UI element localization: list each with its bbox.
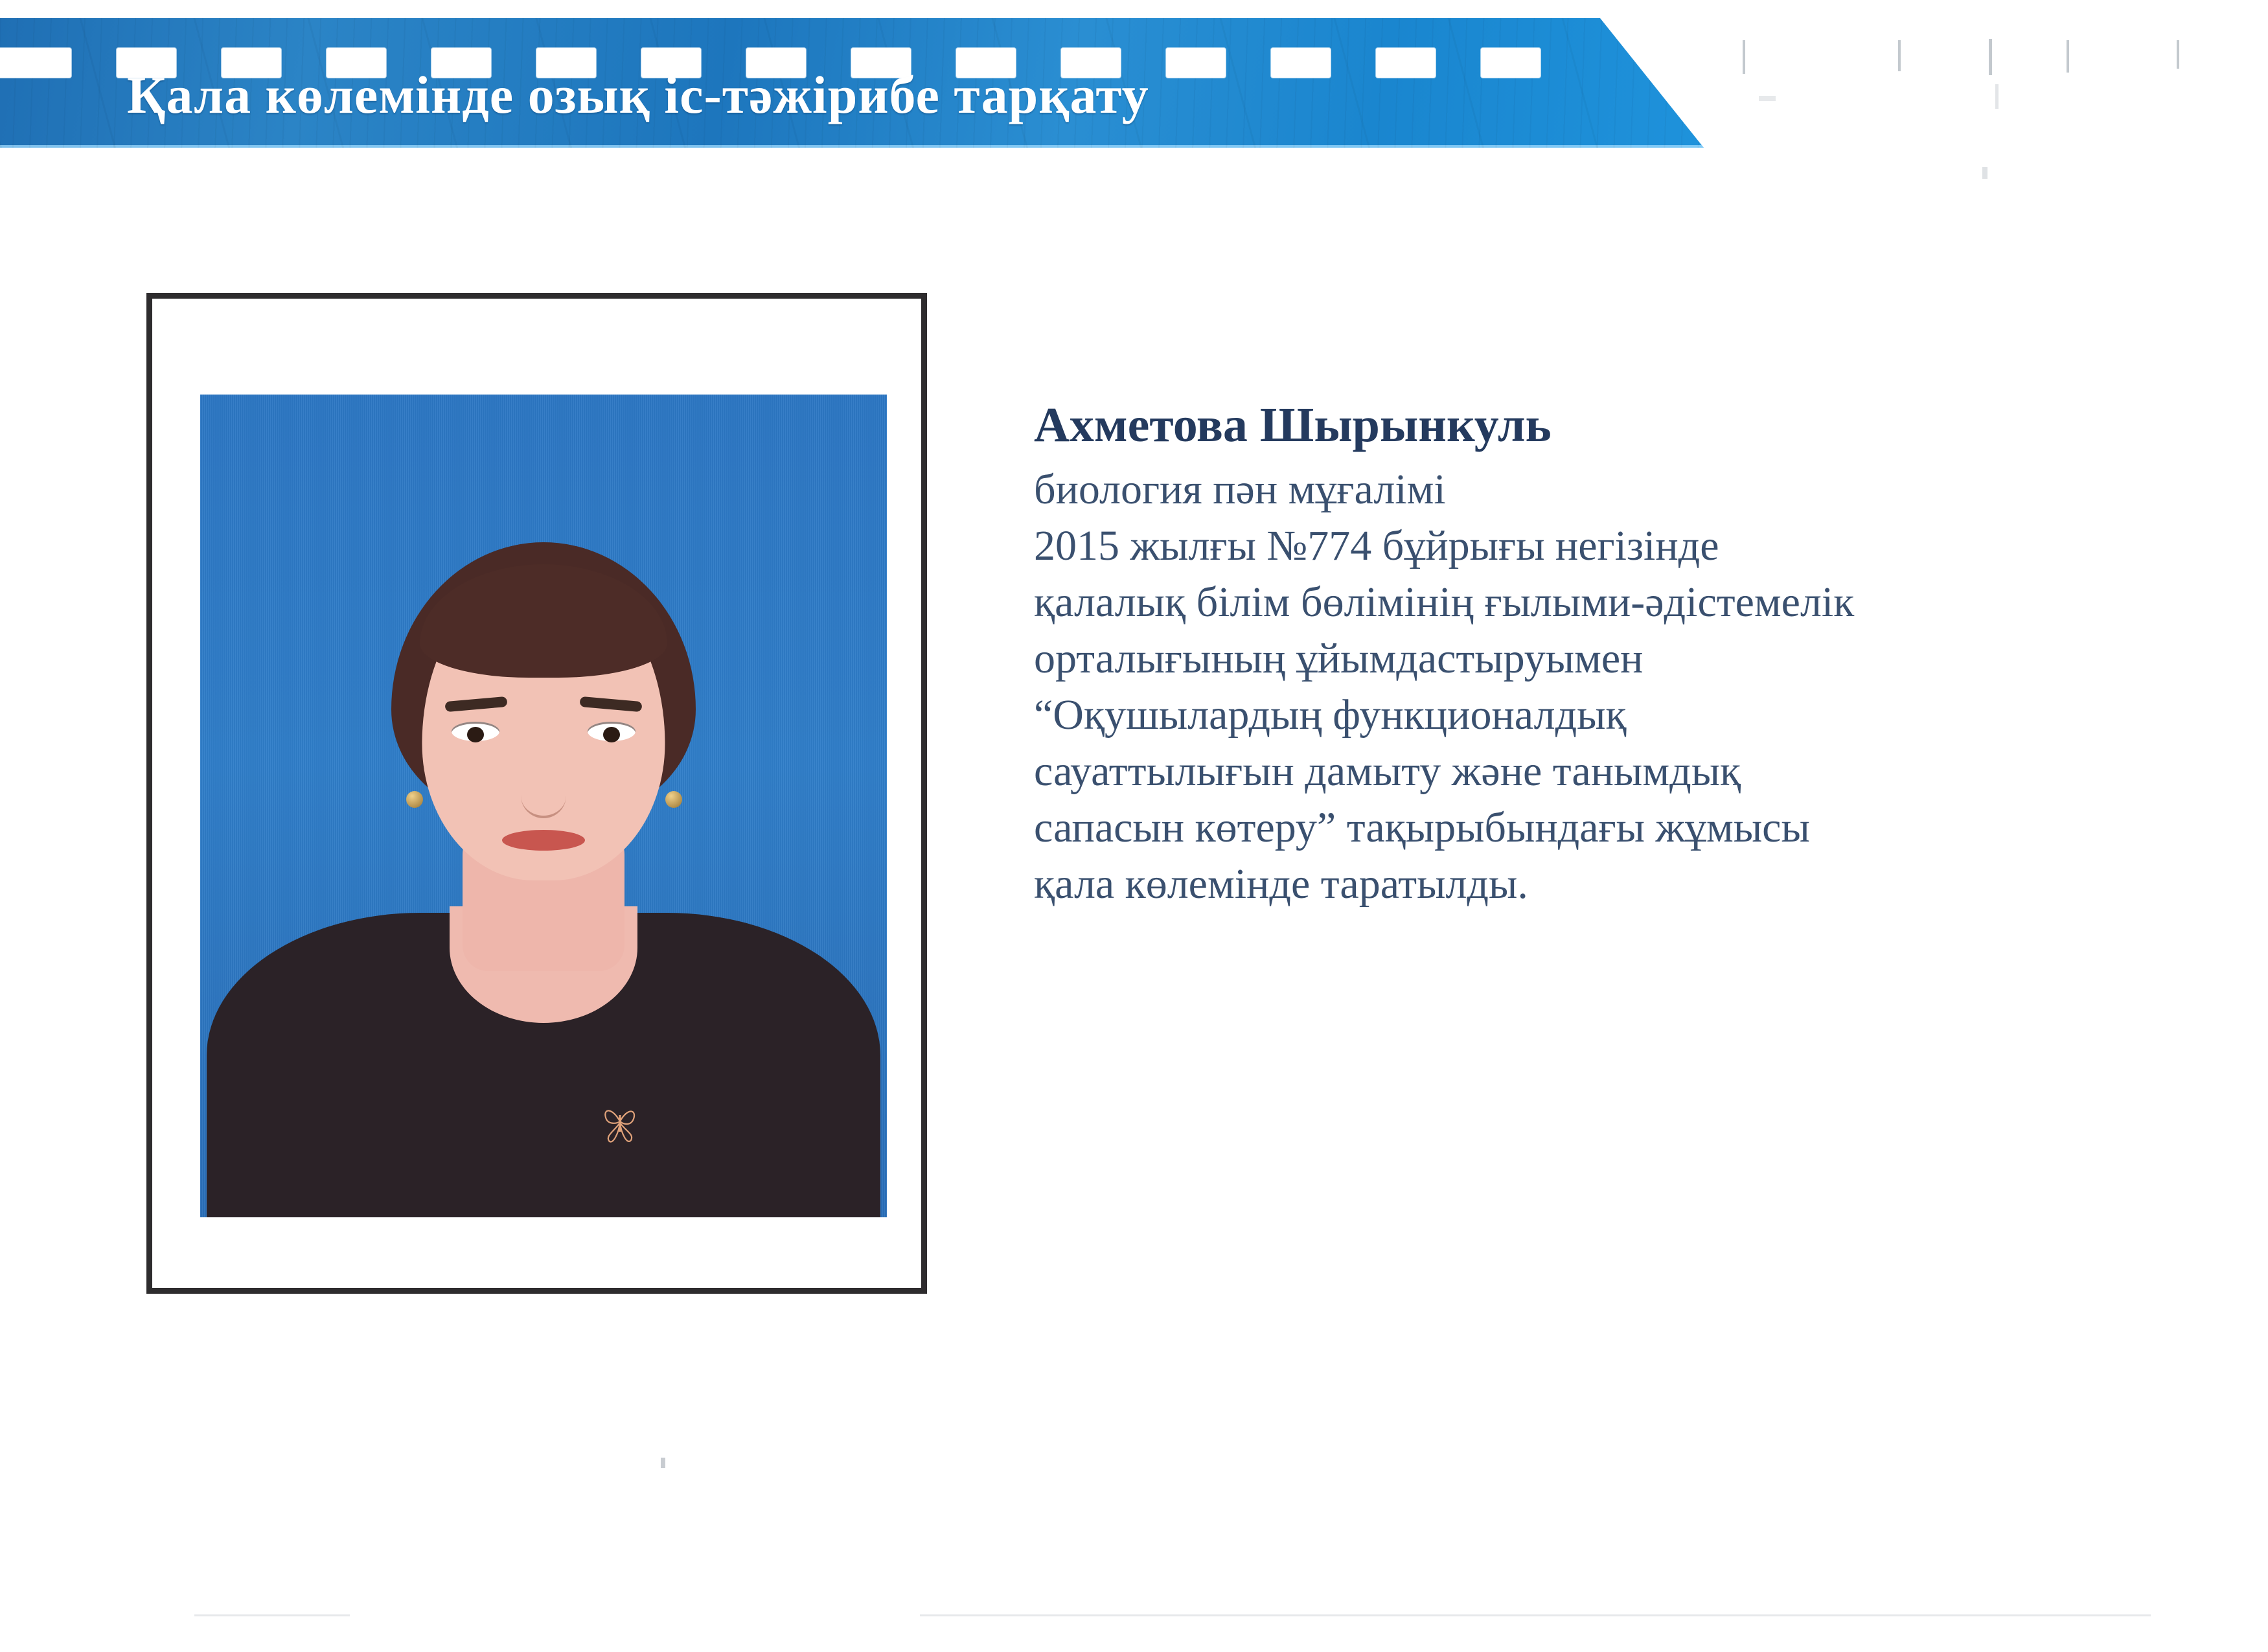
description-line-1: 2015 жылғы №774 бұйрығы негізінде — [1034, 518, 2213, 574]
scan-speck — [1743, 40, 1745, 74]
scan-speck — [1982, 167, 1987, 179]
description-line-7: қала көлемінде таратылды. — [1034, 856, 2213, 912]
scan-artifact — [661, 1458, 665, 1468]
header-banner: Қала көлемінде озық іс-тәжірибе тарқату — [0, 18, 1723, 148]
scan-speck — [1759, 96, 1776, 101]
description-line-5: сауаттылығын дамыту және танымдық — [1034, 743, 2213, 799]
scan-speck — [2067, 40, 2069, 73]
page-title: Қала көлемінде озық іс-тәжірибе тарқату — [127, 69, 1149, 122]
portrait-photo — [200, 395, 887, 1217]
info-text-block: Ахметова Шырынкуль биология пән мұғалімі… — [1034, 396, 2213, 913]
description-line-6: сапасын көтеру” тақырыбындағы жұмысы — [1034, 799, 2213, 856]
subject-earring-right — [665, 791, 682, 808]
person-subtitle: биология пән мұғалімі — [1034, 461, 2213, 518]
slide-page: Қала көлемінде озық іс-тәжірибе тарқату — [0, 0, 2268, 1652]
scan-speck — [1989, 39, 1992, 75]
scan-artifact — [920, 1614, 2151, 1616]
portrait-frame — [146, 293, 927, 1294]
description-line-3: орталығының ұйымдастыруымен — [1034, 630, 2213, 687]
subject-eye-left — [452, 722, 499, 741]
butterfly-brooch-icon — [597, 1096, 643, 1146]
person-name: Ахметова Шырынкуль — [1034, 396, 2213, 455]
scan-speck — [1995, 84, 1999, 109]
description-line-4: “Оқушылардың функционалдық — [1034, 687, 2213, 743]
scan-speck — [1898, 40, 1901, 71]
subject-mouth — [502, 830, 585, 851]
description-line-2: қалалық білім бөлімінің ғылыми-әдістемел… — [1034, 574, 2213, 630]
subject-eye-right — [588, 722, 636, 741]
subject-earring-left — [406, 791, 423, 808]
subject-nose — [521, 770, 566, 818]
scan-artifact — [194, 1614, 350, 1616]
scan-speck — [2177, 40, 2179, 69]
